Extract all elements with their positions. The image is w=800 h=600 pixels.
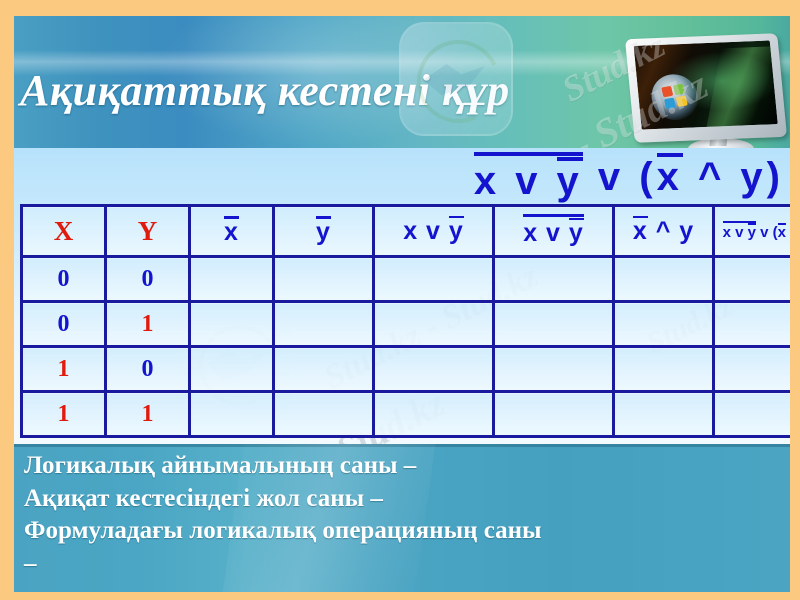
- table-row: 0 0: [22, 257, 791, 302]
- monitor-wallpaper-beam: [704, 46, 778, 130]
- table-header-cell-not-y[interactable]: y: [274, 206, 374, 257]
- cell-y[interactable]: 0: [106, 257, 190, 302]
- cell-not-x-or-noty[interactable]: [494, 302, 614, 347]
- cell-value-x: 0: [58, 266, 70, 292]
- formula-rest: v (x ^ y): [583, 153, 784, 200]
- table-header-cell-x[interactable]: X: [22, 206, 106, 257]
- question-line-4: –: [14, 548, 790, 581]
- cell-value-y: 0: [142, 266, 154, 292]
- cell-value-x: 1: [58, 401, 70, 427]
- cell-not-x-or-noty[interactable]: [494, 392, 614, 437]
- cell-notx-and-y[interactable]: [614, 347, 714, 392]
- table-header-cell-not-x[interactable]: x: [190, 206, 274, 257]
- cell-not-y[interactable]: [274, 347, 374, 392]
- truth-table: X Y x y x v y x v y: [20, 204, 790, 438]
- monitor-screen: [634, 40, 778, 129]
- slide-root: Ақиқаттық кестені құр Stud.kz Stud.kz - …: [0, 0, 800, 600]
- table-header-row: X Y x y x v y x v y: [22, 206, 791, 257]
- cell-result[interactable]: [714, 347, 791, 392]
- cell-value-y: 1: [142, 401, 154, 427]
- question-line-1: Логикалық айнымалының саны –: [14, 444, 790, 483]
- question-line-2: Ақиқат кестесіндегі жол саны –: [14, 483, 790, 516]
- page-title: Ақиқаттық кестені құр: [20, 68, 660, 114]
- cell-y[interactable]: 0: [106, 347, 190, 392]
- formula-heading: x v y v (x ^ y): [14, 148, 790, 205]
- cell-not-x[interactable]: [190, 392, 274, 437]
- header-label-notx-and-y: x ^ y: [633, 217, 694, 245]
- table-header-cell-not-x-or-noty[interactable]: x v y: [494, 206, 614, 257]
- table-row: 0 1: [22, 302, 791, 347]
- title-banner: Ақиқаттық кестені құр Stud.kz Stud.kz - …: [14, 16, 790, 148]
- frame-border-top: [0, 0, 800, 16]
- cell-x[interactable]: 0: [22, 257, 106, 302]
- header-label-x: X: [54, 216, 74, 246]
- cell-x-or-noty[interactable]: [374, 347, 494, 392]
- formula-negated-group: x v y: [474, 152, 583, 201]
- questions-panel: Stud.kz - Stud.kz Stud.kz Логикалық айны…: [14, 444, 790, 592]
- cell-value-y: 0: [142, 356, 154, 382]
- lcd-monitor-icon: [612, 34, 790, 148]
- cell-not-y[interactable]: [274, 392, 374, 437]
- question-line-3: Формуладағы логикалық операцияның саны: [14, 515, 790, 548]
- table-row: 1 1: [22, 392, 791, 437]
- cell-not-x[interactable]: [190, 347, 274, 392]
- cell-not-x-or-noty[interactable]: [494, 257, 614, 302]
- cell-x[interactable]: 1: [22, 347, 106, 392]
- frame-border-left: [0, 0, 14, 600]
- cell-value-x: 1: [58, 356, 70, 382]
- cell-result[interactable]: [714, 302, 791, 347]
- cell-y[interactable]: 1: [106, 302, 190, 347]
- cell-not-x[interactable]: [190, 257, 274, 302]
- cell-notx-and-y[interactable]: [614, 257, 714, 302]
- table-header-cell-x-or-noty[interactable]: x v y: [374, 206, 494, 257]
- header-label-y: Y: [138, 216, 158, 246]
- cell-notx-and-y[interactable]: [614, 302, 714, 347]
- header-label-not-x-or-noty: x v y: [523, 219, 584, 247]
- cell-not-x[interactable]: [190, 302, 274, 347]
- frame-border-bottom: [0, 592, 800, 600]
- cell-not-y[interactable]: [274, 302, 374, 347]
- cell-y[interactable]: 1: [106, 392, 190, 437]
- cell-notx-and-y[interactable]: [614, 392, 714, 437]
- cell-result[interactable]: [714, 257, 791, 302]
- cell-x-or-noty[interactable]: [374, 257, 494, 302]
- cell-x[interactable]: 1: [22, 392, 106, 437]
- header-label-result: x v y v (x ^ y): [723, 224, 790, 241]
- table-header-cell-result[interactable]: x v y v (x ^ y): [714, 206, 791, 257]
- header-label-not-y: y: [316, 216, 331, 245]
- header-label-x-or-noty: x v y: [403, 217, 464, 245]
- cell-x-or-noty[interactable]: [374, 392, 494, 437]
- worksheet-area: Stud.kz - Stud.kz Stud.kz Stud.kz - Stud…: [14, 148, 790, 444]
- table-header-cell-notx-and-y[interactable]: x ^ y: [614, 206, 714, 257]
- formula-not-y: y: [557, 157, 583, 201]
- cell-x-or-noty[interactable]: [374, 302, 494, 347]
- frame-border-right: [790, 0, 800, 600]
- table-row: 1 0: [22, 347, 791, 392]
- cell-not-x-or-noty[interactable]: [494, 347, 614, 392]
- cell-value-y: 1: [142, 311, 154, 337]
- cell-not-y[interactable]: [274, 257, 374, 302]
- cell-result[interactable]: [714, 392, 791, 437]
- cell-x[interactable]: 0: [22, 302, 106, 347]
- formula-not-x: x: [657, 153, 683, 197]
- cell-value-x: 0: [58, 311, 70, 337]
- header-label-not-x: x: [224, 216, 239, 245]
- monitor-bezel: [625, 33, 787, 143]
- table-header-cell-y[interactable]: Y: [106, 206, 190, 257]
